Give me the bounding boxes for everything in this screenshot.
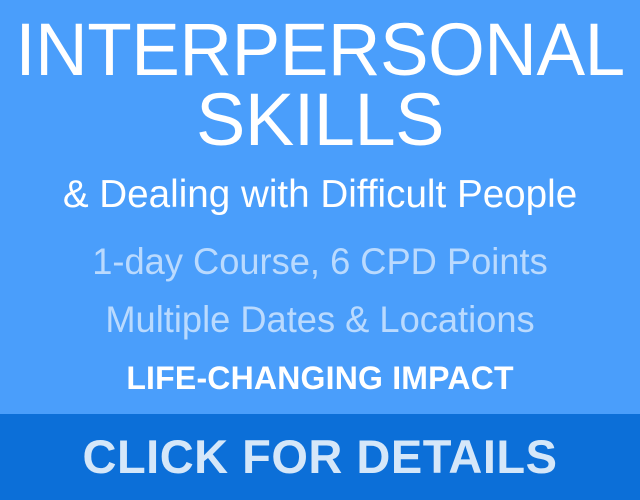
ad-detail-course-info: 1-day Course, 6 CPD Points <box>6 243 633 280</box>
cta-button-label: CLICK FOR DETAILS <box>83 433 558 480</box>
ad-tagline: LIFE-CHANGING IMPACT <box>0 362 640 394</box>
ad-detail-dates-locations: Multiple Dates & Locations <box>6 301 633 338</box>
headline-line-2: SKILLS <box>0 86 640 155</box>
headline-line-1: INTERPERSONAL <box>5 16 635 85</box>
ad-content-area: INTERPERSONAL SKILLS & Dealing with Diff… <box>0 0 640 414</box>
advertisement-banner[interactable]: INTERPERSONAL SKILLS & Dealing with Diff… <box>0 0 640 500</box>
cta-button[interactable]: CLICK FOR DETAILS <box>0 414 640 500</box>
ad-subtitle: & Dealing with Difficult People <box>3 175 637 214</box>
